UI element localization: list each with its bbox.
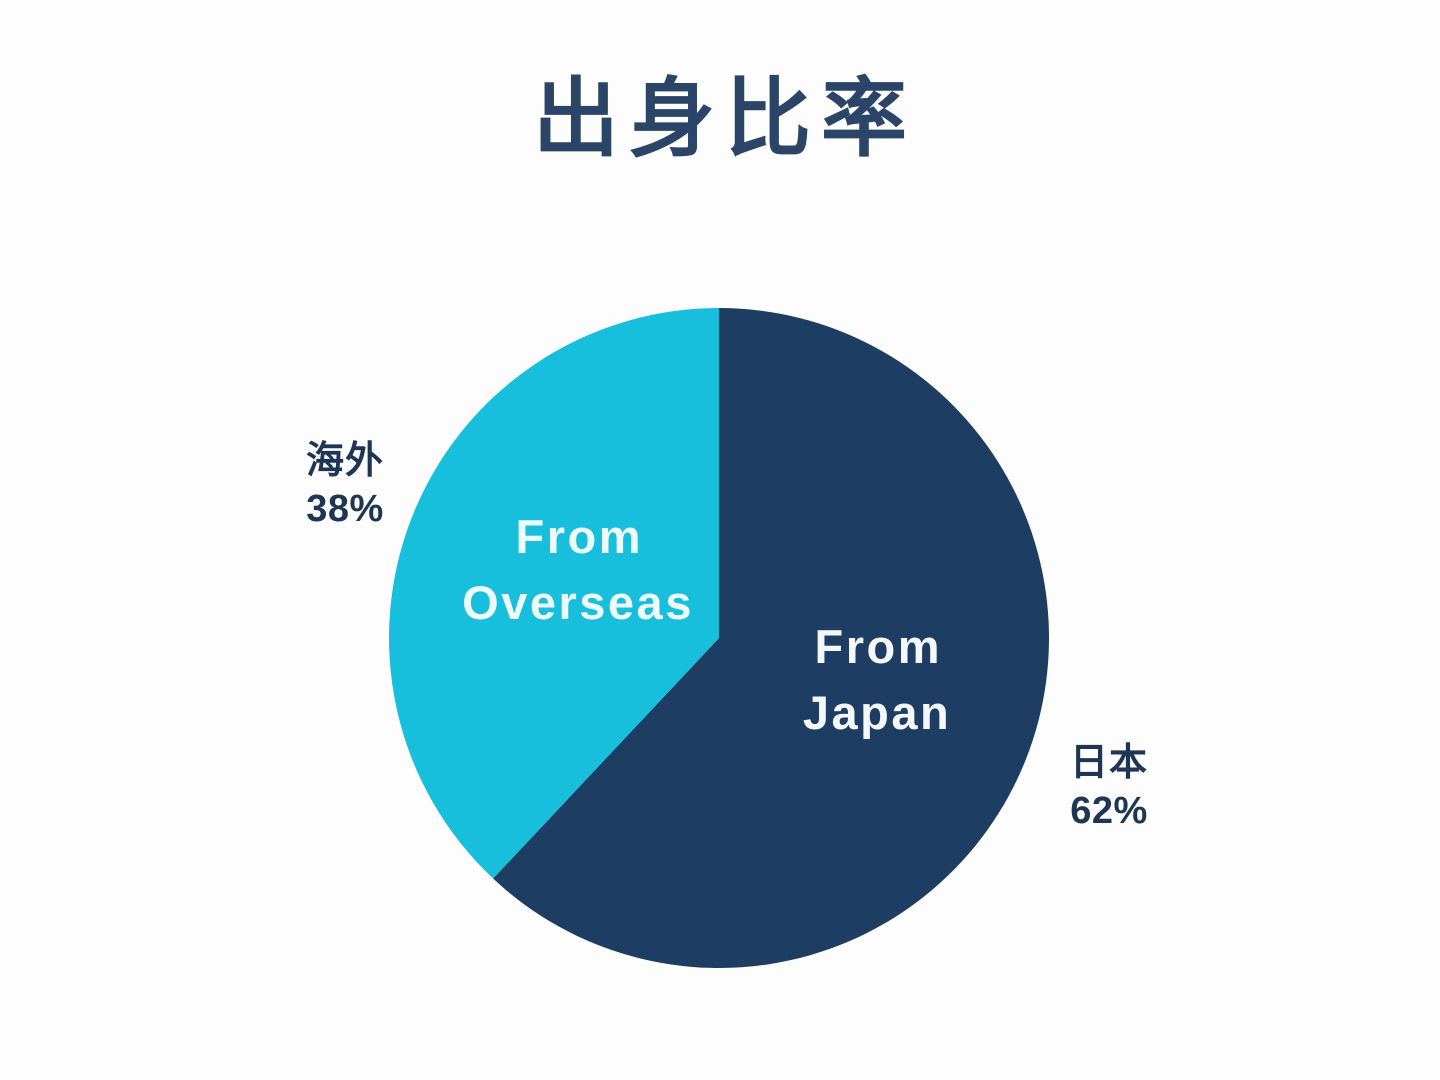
pie-slice-label-overseas-line2: Overseas	[462, 576, 694, 629]
pie-callout-overseas-name: 海外	[239, 436, 451, 485]
pie-callout-japan-value: 62%	[1003, 787, 1215, 836]
page-title: 出身比率	[0, 74, 1440, 164]
pie-slice-label-overseas-line1: From	[516, 510, 644, 563]
pie-slice-label-japan-line2: Japan	[803, 686, 951, 739]
pie-slice-label-japan-line1: From	[815, 620, 943, 673]
pie-slice-label-overseas: From Overseas	[408, 504, 748, 636]
pie-callout-japan-name: 日本	[1003, 738, 1215, 787]
pie-callout-japan: 日本 62%	[1003, 738, 1215, 835]
slide-canvas: 出身比率 From Overseas From Japan 海外 38% 日本 …	[0, 0, 1440, 1080]
pie-slice-label-japan: From Japan	[737, 614, 1017, 746]
pie-callout-overseas-value: 38%	[239, 485, 451, 534]
pie-callout-overseas: 海外 38%	[239, 436, 451, 533]
